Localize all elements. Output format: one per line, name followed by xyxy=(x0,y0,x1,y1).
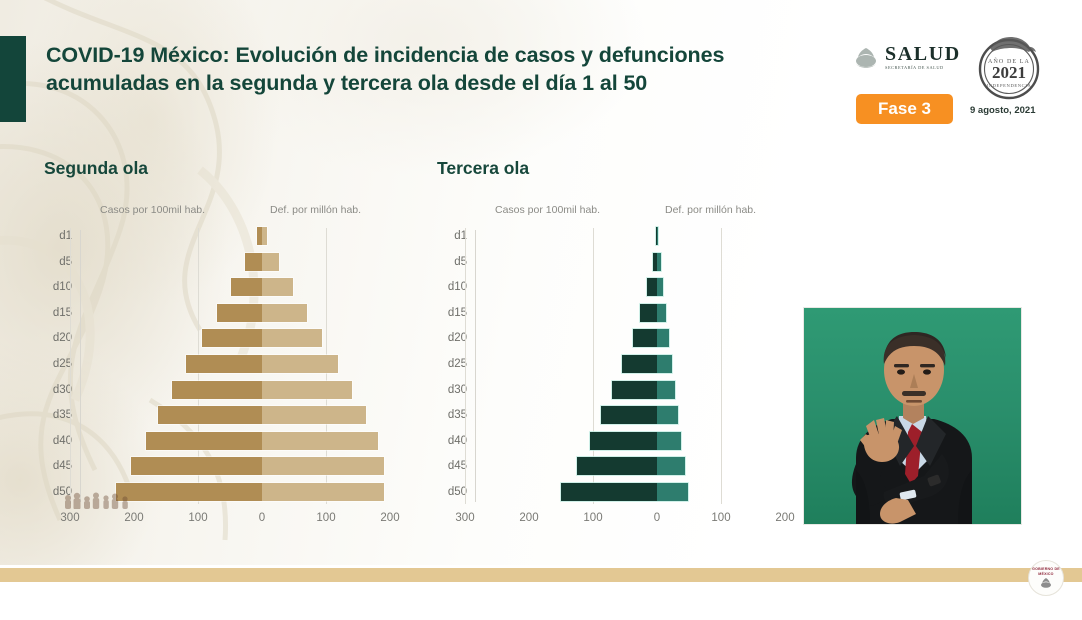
chart2-y-axis-labels: d1d5d10d15d20d25d30d35d40d45d50 xyxy=(425,226,469,506)
bar-row-d25 xyxy=(622,355,671,373)
bar-row-d15 xyxy=(640,304,666,322)
seal-bottom-text: INDEPENDENCIA xyxy=(987,83,1032,88)
bar-deaths-d10 xyxy=(657,278,663,296)
bar-cases-d50 xyxy=(116,483,262,501)
bar-deaths-d10 xyxy=(262,278,293,296)
bar-row-d1 xyxy=(656,227,659,245)
bar-cases-d10 xyxy=(647,278,657,296)
bar-deaths-d45 xyxy=(262,457,384,475)
x-tick-4: 100 xyxy=(711,512,730,524)
date-label: 9 agosto, 2021 xyxy=(970,106,1040,117)
bar-deaths-d5 xyxy=(657,253,661,271)
bar-cases-d35 xyxy=(158,406,262,424)
bar-deaths-d45 xyxy=(657,457,685,475)
bar-deaths-d50 xyxy=(657,483,688,501)
bar-row-d50 xyxy=(561,483,688,501)
bar-deaths-d30 xyxy=(262,381,352,399)
chart-title-tercera-ola: Tercera ola xyxy=(437,158,529,179)
bar-deaths-d20 xyxy=(262,329,322,347)
chart-tercera-ola: Casos por 100mil hab. Def. por millón ha… xyxy=(425,200,825,545)
bar-cases-d5 xyxy=(245,253,262,271)
x-tick-3: 0 xyxy=(259,512,265,524)
gobierno-de-mexico-logo: GOBIERNO DE MÉXICO xyxy=(1028,560,1064,596)
bar-deaths-d20 xyxy=(657,329,669,347)
chart1-y-axis-labels: d1d5d10d15d20d25d30d35d40d45d50 xyxy=(30,226,74,506)
eagle-emblem-icon xyxy=(852,42,880,72)
chart2-y-axis-line xyxy=(475,230,476,502)
chart-title-segunda-ola: Segunda ola xyxy=(44,158,148,179)
independencia-2021-seal: AÑO DE LA 2021 INDEPENDENCIA xyxy=(972,30,1046,104)
bar-deaths-d30 xyxy=(657,381,675,399)
bar-cases-d30 xyxy=(172,381,262,399)
bottom-divider-rule xyxy=(0,568,1082,582)
bar-row-d45 xyxy=(577,457,685,475)
bar-cases-d10 xyxy=(231,278,262,296)
bar-deaths-d35 xyxy=(262,406,366,424)
x-tick-2: 100 xyxy=(583,512,602,524)
chart1-y-axis-line xyxy=(80,230,81,502)
bar-cases-d35 xyxy=(601,406,657,424)
bar-cases-d20 xyxy=(633,329,657,347)
x-tick-5: 200 xyxy=(775,512,794,524)
gridline-100 xyxy=(721,228,722,504)
bar-row-d35 xyxy=(158,406,367,424)
bar-row-d25 xyxy=(186,355,337,373)
bar-cases-d40 xyxy=(146,432,262,450)
bar-row-d5 xyxy=(245,253,278,271)
bar-deaths-d40 xyxy=(262,432,378,450)
page-title: COVID-19 México: Evolución de incidencia… xyxy=(46,42,826,97)
bar-row-d15 xyxy=(217,304,307,322)
bar-row-d50 xyxy=(116,483,384,501)
bar-row-d10 xyxy=(231,278,292,296)
x-tick-5: 200 xyxy=(380,512,399,524)
crowd-photo-watermark xyxy=(60,487,132,509)
bar-deaths-d25 xyxy=(262,355,338,373)
bar-cases-d50 xyxy=(561,483,657,501)
x-tick-4: 100 xyxy=(316,512,335,524)
bar-row-d40 xyxy=(590,432,682,450)
x-tick-1: 200 xyxy=(519,512,538,524)
chart2-column-headers: Casos por 100mil hab. Def. por millón ha… xyxy=(425,200,825,222)
chart2-plot-area: d1d5d10d15d20d25d30d35d40d45d50 xyxy=(425,226,825,506)
bar-cases-d25 xyxy=(622,355,657,373)
phase-badge: Fase 3 xyxy=(856,94,953,124)
chart2-left-header: Casos por 100mil hab. xyxy=(495,204,600,216)
salud-logo-subtext: SECRETARÍA DE SALUD xyxy=(885,66,961,70)
bar-deaths-d15 xyxy=(262,304,307,322)
bar-deaths-d25 xyxy=(657,355,672,373)
bar-row-d20 xyxy=(633,329,669,347)
chart2-right-header: Def. por millón hab. xyxy=(665,204,756,216)
interpreter-figure xyxy=(804,308,1021,524)
bar-deaths-d50 xyxy=(262,483,384,501)
sign-language-interpreter-video[interactable] xyxy=(803,307,1022,525)
bar-deaths-d1 xyxy=(262,227,267,245)
bar-deaths-d40 xyxy=(657,432,681,450)
bar-row-d35 xyxy=(601,406,678,424)
bar-cases-d45 xyxy=(577,457,657,475)
bar-row-d30 xyxy=(612,381,675,399)
bar-cases-d30 xyxy=(612,381,657,399)
bar-cases-d45 xyxy=(131,457,262,475)
bar-deaths-d5 xyxy=(262,253,279,271)
header-logos: SALUD SECRETARÍA DE SALUD AÑO DE LA 2021… xyxy=(852,30,1077,138)
x-tick-2: 100 xyxy=(188,512,207,524)
chart1-column-headers: Casos por 100mil hab. Def. por millón ha… xyxy=(30,200,430,222)
chart1-left-header: Casos por 100mil hab. xyxy=(100,204,205,216)
salud-logo: SALUD SECRETARÍA DE SALUD xyxy=(852,42,961,72)
bar-row-d40 xyxy=(146,432,379,450)
chart1-plot-area: d1d5d10d15d20d25d30d35d40d45d50 xyxy=(30,226,430,506)
slide-canvas: COVID-19 México: Evolución de incidencia… xyxy=(0,0,1082,620)
bar-row-d10 xyxy=(647,278,664,296)
x-tick-0: 300 xyxy=(455,512,474,524)
chart2-x-axis: 3002001000100200 xyxy=(425,512,825,532)
salud-logo-text: SALUD xyxy=(885,44,961,64)
chart1-right-header: Def. por millón hab. xyxy=(270,204,361,216)
brand-accent-bar xyxy=(0,36,26,122)
bar-cases-d15 xyxy=(217,304,262,322)
bar-row-d30 xyxy=(172,381,352,399)
bar-row-d45 xyxy=(131,457,384,475)
bar-deaths-d35 xyxy=(657,406,678,424)
bar-deaths-d15 xyxy=(657,304,666,322)
bar-row-d5 xyxy=(653,253,661,271)
bottom-white-strip xyxy=(0,582,1082,620)
x-tick-0: 300 xyxy=(60,512,79,524)
x-tick-3: 0 xyxy=(654,512,660,524)
bar-cases-d40 xyxy=(590,432,657,450)
bar-row-d20 xyxy=(202,329,322,347)
x-tick-1: 200 xyxy=(124,512,143,524)
gridline-300 xyxy=(70,228,71,504)
seal-year-text: 2021 xyxy=(992,63,1026,82)
bar-cases-d20 xyxy=(202,329,262,347)
bar-cases-d25 xyxy=(186,355,262,373)
bar-cases-d15 xyxy=(640,304,657,322)
corner-eagle-icon xyxy=(1039,576,1053,589)
gridline-300 xyxy=(465,228,466,504)
bar-deaths-d1 xyxy=(657,227,658,245)
chart1-x-axis: 3002001000100200 xyxy=(30,512,430,532)
bar-row-d1 xyxy=(257,227,267,245)
